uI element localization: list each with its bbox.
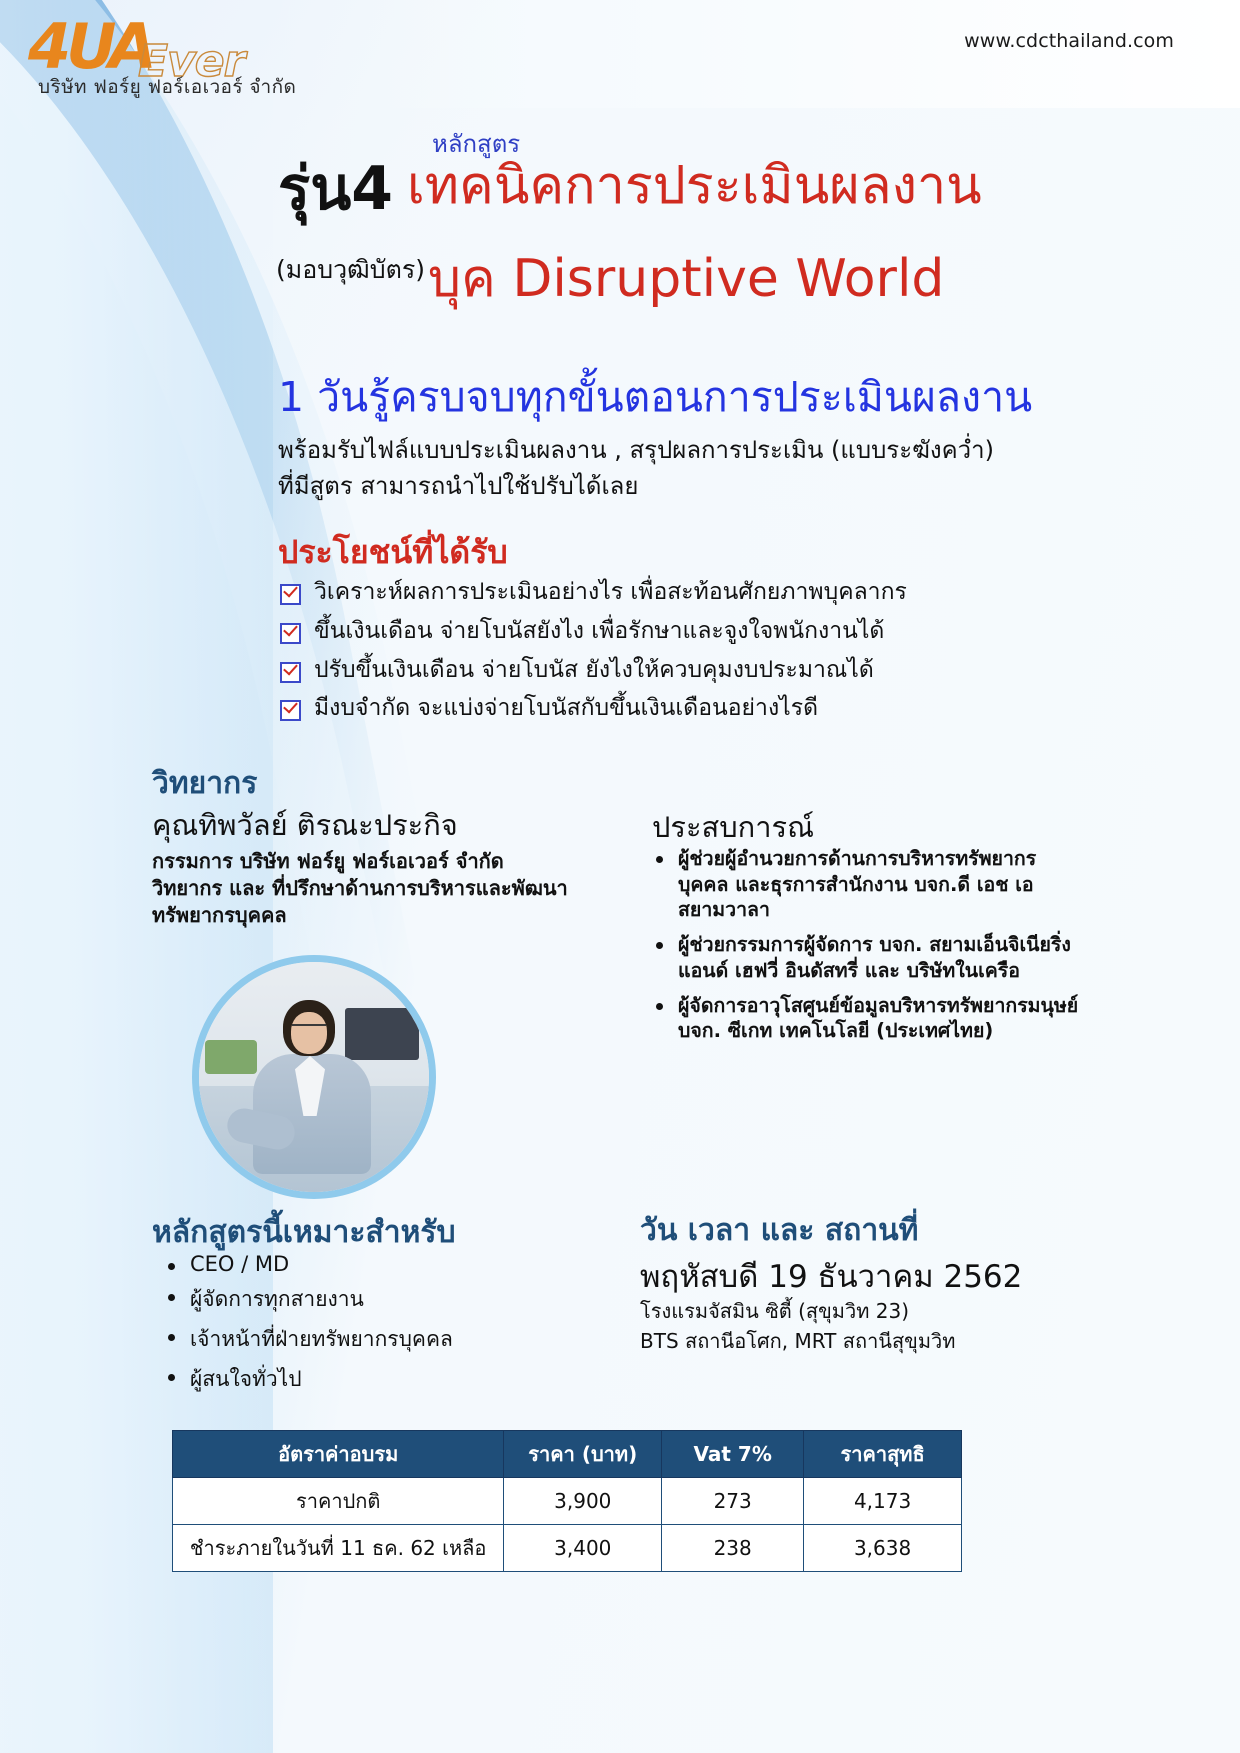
price-cell-vat: 238 bbox=[662, 1525, 804, 1572]
benefit-item: มีงบจำกัด จะแบ่งจ่ายโบนัสกับขึ้นเงินเดือ… bbox=[280, 694, 1040, 723]
course-title-line1: เทคนิคการประเมินผลงาน bbox=[407, 158, 982, 214]
suitable-heading: หลักสูตรนี้เหมาะสำหรับ bbox=[152, 1209, 456, 1256]
certificate-note: (มอบวุฒิบัตร) bbox=[276, 250, 425, 290]
speaker-heading: วิทยากร bbox=[152, 760, 257, 807]
course-title-row: รุ่น4 เทคนิคการประเมินผลงาน bbox=[278, 158, 982, 221]
venue-line-1: โรงแรมจัสมิน ซิตี้ (สุขุมวิท 23) bbox=[640, 1296, 1080, 1326]
benefits-heading: ประโยชน์ที่ได้รับ bbox=[278, 527, 508, 578]
headline: 1 วันรู้ครบจบทุกขั้นตอนการประเมินผลงาน bbox=[278, 365, 1032, 430]
experience-list: ผู้ช่วยผู้อำนวยการด้านการบริหารทรัพยากรบ… bbox=[652, 846, 1082, 1053]
price-cell-net: 3,638 bbox=[804, 1525, 962, 1572]
experience-item: ผู้จัดการอาวุโสศูนย์ข้อมูลบริหารทรัพยากร… bbox=[652, 993, 1082, 1044]
price-col-header-vat: Vat 7% bbox=[662, 1431, 804, 1478]
price-table: อัตราค่าอบรม ราคา (บาท) Vat 7% ราคาสุทธิ… bbox=[172, 1430, 962, 1572]
price-cell-label: ราคาปกติ bbox=[173, 1478, 504, 1525]
suitable-item: เจ้าหน้าที่ฝ่ายทรัพยากรบุคคล bbox=[164, 1323, 584, 1356]
headline-subtext: พร้อมรับไฟล์แบบประเมินผลงาน , สรุปผลการป… bbox=[278, 432, 1008, 504]
speaker-name: คุณทิพวัลย์ ติรณะประกิจ bbox=[152, 802, 458, 848]
schedule-date: พฤหัสบดี 19 ธันวาคม 2562 bbox=[640, 1251, 1022, 1301]
suitable-item: ผู้สนใจทั่วไป bbox=[164, 1363, 584, 1396]
schedule-venue: โรงแรมจัสมิน ซิตี้ (สุขุมวิท 23) BTS สถา… bbox=[640, 1296, 1080, 1356]
price-cell-net: 4,173 bbox=[804, 1478, 962, 1525]
benefit-item: วิเคราะห์ผลการประเมินอย่างไร เพื่อสะท้อน… bbox=[280, 578, 1040, 607]
price-table-header-row: อัตราค่าอบรม ราคา (บาท) Vat 7% ราคาสุทธิ bbox=[173, 1431, 962, 1478]
table-row: ราคาปกติ 3,900 273 4,173 bbox=[173, 1478, 962, 1525]
price-cell-price: 3,400 bbox=[504, 1525, 662, 1572]
company-logo: 4UA Ever บริษัท ฟอร์ยู ฟอร์เอเวอร์ จำกัด bbox=[20, 14, 280, 98]
speaker-roles: กรรมการ บริษัท ฟอร์ยู ฟอร์เอเวอร์ จำกัดว… bbox=[152, 848, 622, 929]
website-url: www.cdcthailand.com bbox=[964, 30, 1174, 52]
logo-company-name: บริษัท ฟอร์ยู ฟอร์เอเวอร์ จำกัด bbox=[38, 72, 296, 102]
benefit-text: วิเคราะห์ผลการประเมินอย่างไร เพื่อสะท้อน… bbox=[314, 578, 907, 607]
benefit-item: ขึ้นเงินเดือน จ่ายโบนัสยังไง เพื่อรักษาแ… bbox=[280, 617, 1040, 646]
course-title-line2: บุค Disruptive World bbox=[428, 236, 944, 319]
benefit-text: ปรับขึ้นเงินเดือน จ่ายโบนัส ยังไงให้ควบค… bbox=[314, 656, 874, 685]
portrait-monitor bbox=[345, 1008, 419, 1060]
portrait-glasses bbox=[292, 1024, 326, 1035]
price-cell-label: ชำระภายในวันที่ 11 ธค. 62 เหลือ bbox=[173, 1525, 504, 1572]
price-col-header-net: ราคาสุทธิ bbox=[804, 1431, 962, 1478]
checkbox-checked-icon bbox=[280, 623, 301, 644]
checkbox-checked-icon bbox=[280, 584, 301, 605]
speaker-portrait bbox=[192, 955, 436, 1199]
experience-item: ผู้ช่วยกรรมการผู้จัดการ บจก. สยามเอ็นจิเ… bbox=[652, 932, 1082, 983]
price-cell-price: 3,900 bbox=[504, 1478, 662, 1525]
suitable-item: ผู้จัดการทุกสายงาน bbox=[164, 1283, 584, 1316]
checkbox-checked-icon bbox=[280, 662, 301, 683]
price-col-header-rate: อัตราค่าอบรม bbox=[173, 1431, 504, 1478]
table-row: ชำระภายในวันที่ 11 ธค. 62 เหลือ 3,400 23… bbox=[173, 1525, 962, 1572]
poster-page: www.cdcthailand.com 4UA Ever บริษัท ฟอร์… bbox=[0, 0, 1240, 1753]
benefit-text: มีงบจำกัด จะแบ่งจ่ายโบนัสกับขึ้นเงินเดือ… bbox=[314, 694, 818, 723]
experience-item: ผู้ช่วยผู้อำนวยการด้านการบริหารทรัพยากรบ… bbox=[652, 846, 1082, 923]
suitable-item: CEO / MD bbox=[164, 1252, 584, 1276]
portrait-plant bbox=[205, 1040, 257, 1074]
course-batch: รุ่น4 bbox=[278, 158, 393, 221]
benefits-list: วิเคราะห์ผลการประเมินอย่างไร เพื่อสะท้อน… bbox=[280, 578, 1040, 733]
venue-line-2: BTS สถานีอโศก, MRT สถานีสุขุมวิท bbox=[640, 1326, 1080, 1356]
price-cell-vat: 273 bbox=[662, 1478, 804, 1525]
logo-mark-4u: 4UA bbox=[28, 16, 152, 78]
checkbox-checked-icon bbox=[280, 700, 301, 721]
benefit-item: ปรับขึ้นเงินเดือน จ่ายโบนัส ยังไงให้ควบค… bbox=[280, 656, 1040, 685]
suitable-list: CEO / MD ผู้จัดการทุกสายงาน เจ้าหน้าที่ฝ… bbox=[164, 1252, 584, 1403]
benefit-text: ขึ้นเงินเดือน จ่ายโบนัสยังไง เพื่อรักษาแ… bbox=[314, 617, 884, 646]
experience-heading: ประสบการณ์ bbox=[652, 804, 814, 850]
schedule-heading: วัน เวลา และ สถานที่ bbox=[640, 1207, 918, 1254]
price-col-header-price: ราคา (บาท) bbox=[504, 1431, 662, 1478]
